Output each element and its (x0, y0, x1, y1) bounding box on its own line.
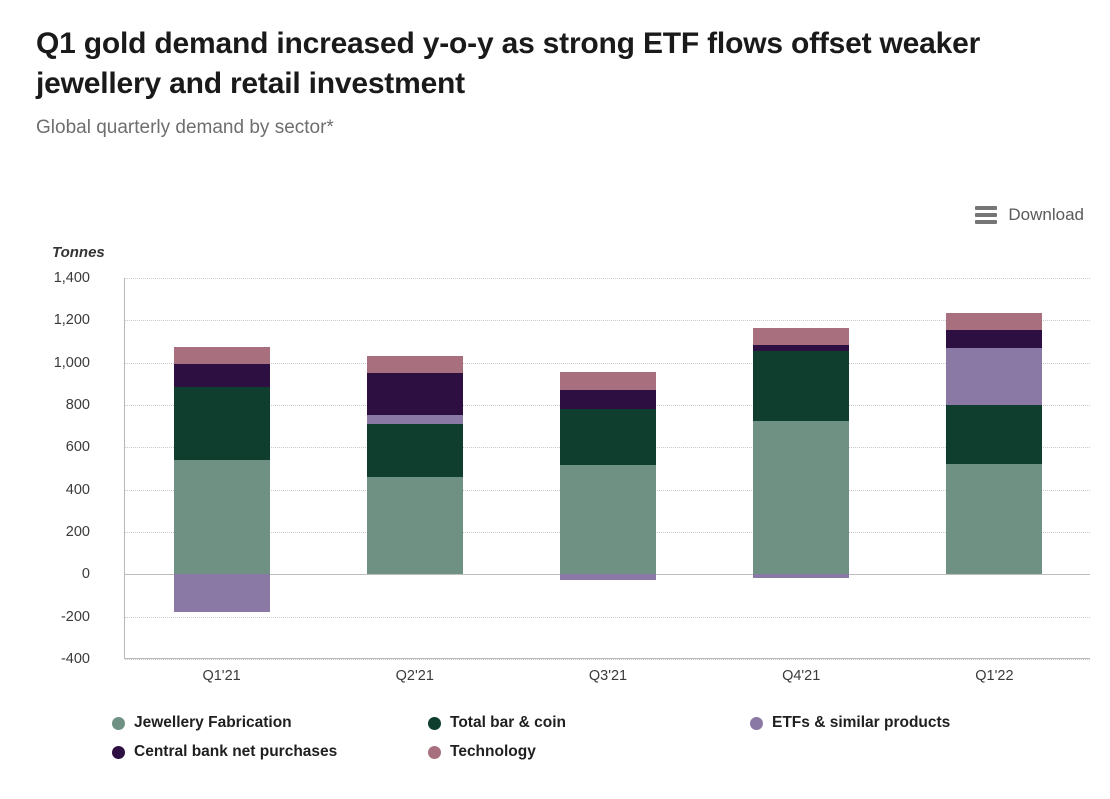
download-button[interactable]: Download (975, 205, 1084, 225)
download-label: Download (1008, 205, 1084, 225)
x-axis-tick-label: Q2'21 (318, 668, 511, 684)
chart-container: Tonnes 1,4001,2001,0008006004002000-200-… (0, 236, 1110, 686)
legend-label: Jewellery Fabrication (134, 714, 292, 732)
bar-segment[interactable] (367, 415, 463, 424)
bar-segment[interactable] (560, 390, 656, 409)
bar-segment[interactable] (174, 364, 270, 387)
bar-group[interactable] (560, 278, 656, 658)
page-title: Q1 gold demand increased y-o-y as strong… (36, 24, 1074, 103)
y-axis-unit-label: Tonnes (52, 244, 105, 261)
legend-item[interactable]: Central bank net purchases (112, 741, 428, 763)
page-subtitle: Global quarterly demand by sector* (36, 117, 1074, 139)
plot-area: 1,4001,2001,0008006004002000-200-400Q1'2… (124, 278, 1090, 659)
y-axis-tick-label: 1,400 (24, 270, 90, 286)
bar-segment[interactable] (946, 405, 1042, 465)
y-axis-tick-label: -200 (24, 609, 90, 625)
hamburger-icon (975, 206, 997, 224)
bar-segment[interactable] (560, 372, 656, 390)
y-axis-tick-label: 200 (24, 524, 90, 540)
x-axis-tick-label: Q3'21 (511, 668, 704, 684)
x-axis-tick-label: Q1'21 (125, 668, 318, 684)
y-axis-tick-label: 1,000 (24, 355, 90, 371)
legend-swatch (428, 746, 441, 759)
y-axis-tick-label: 600 (24, 439, 90, 455)
bar-segment[interactable] (753, 328, 849, 345)
bar-segment[interactable] (174, 574, 270, 611)
legend-swatch (112, 746, 125, 759)
bar-segment[interactable] (753, 351, 849, 421)
legend-swatch (750, 717, 763, 730)
chart-legend: Jewellery FabricationTotal bar & coinETF… (112, 712, 1092, 770)
chart-header: Q1 gold demand increased y-o-y as strong… (0, 0, 1110, 139)
legend-item[interactable]: Jewellery Fabrication (112, 712, 428, 734)
bar-segment[interactable] (946, 313, 1042, 330)
legend-item[interactable]: Technology (428, 741, 750, 763)
bar-group[interactable] (367, 278, 463, 658)
bar-segment[interactable] (367, 477, 463, 574)
legend-swatch (428, 717, 441, 730)
y-axis-tick-label: 400 (24, 482, 90, 498)
y-axis-tick-label: -400 (24, 651, 90, 667)
legend-item[interactable]: ETFs & similar products (750, 712, 1080, 734)
x-axis-tick-label: Q4'21 (705, 668, 898, 684)
x-axis-tick-label: Q1'22 (898, 668, 1091, 684)
bar-segment[interactable] (367, 424, 463, 477)
bar-segment[interactable] (174, 347, 270, 364)
bar-segment[interactable] (753, 574, 849, 578)
bar-segment[interactable] (367, 373, 463, 415)
y-axis-tick-label: 800 (24, 397, 90, 413)
bar-segment[interactable] (753, 345, 849, 351)
bar-segment[interactable] (367, 356, 463, 373)
gridline (125, 659, 1090, 660)
legend-label: Central bank net purchases (134, 743, 337, 761)
y-axis-tick-label: 0 (24, 566, 90, 582)
legend-label: Technology (450, 743, 536, 761)
bar-segment[interactable] (946, 348, 1042, 405)
bar-segment[interactable] (946, 464, 1042, 574)
y-axis-tick-label: 1,200 (24, 312, 90, 328)
bar-group[interactable] (753, 278, 849, 658)
bar-segment[interactable] (946, 330, 1042, 348)
bar-segment[interactable] (174, 387, 270, 460)
legend-label: Total bar & coin (450, 714, 566, 732)
bar-segment[interactable] (753, 421, 849, 574)
legend-label: ETFs & similar products (772, 714, 950, 732)
bar-segment[interactable] (560, 574, 656, 580)
bar-segment[interactable] (560, 409, 656, 466)
legend-swatch (112, 717, 125, 730)
bar-segment[interactable] (174, 460, 270, 574)
bar-group[interactable] (174, 278, 270, 658)
legend-item[interactable]: Total bar & coin (428, 712, 750, 734)
bar-group[interactable] (946, 278, 1042, 658)
bar-segment[interactable] (560, 465, 656, 574)
